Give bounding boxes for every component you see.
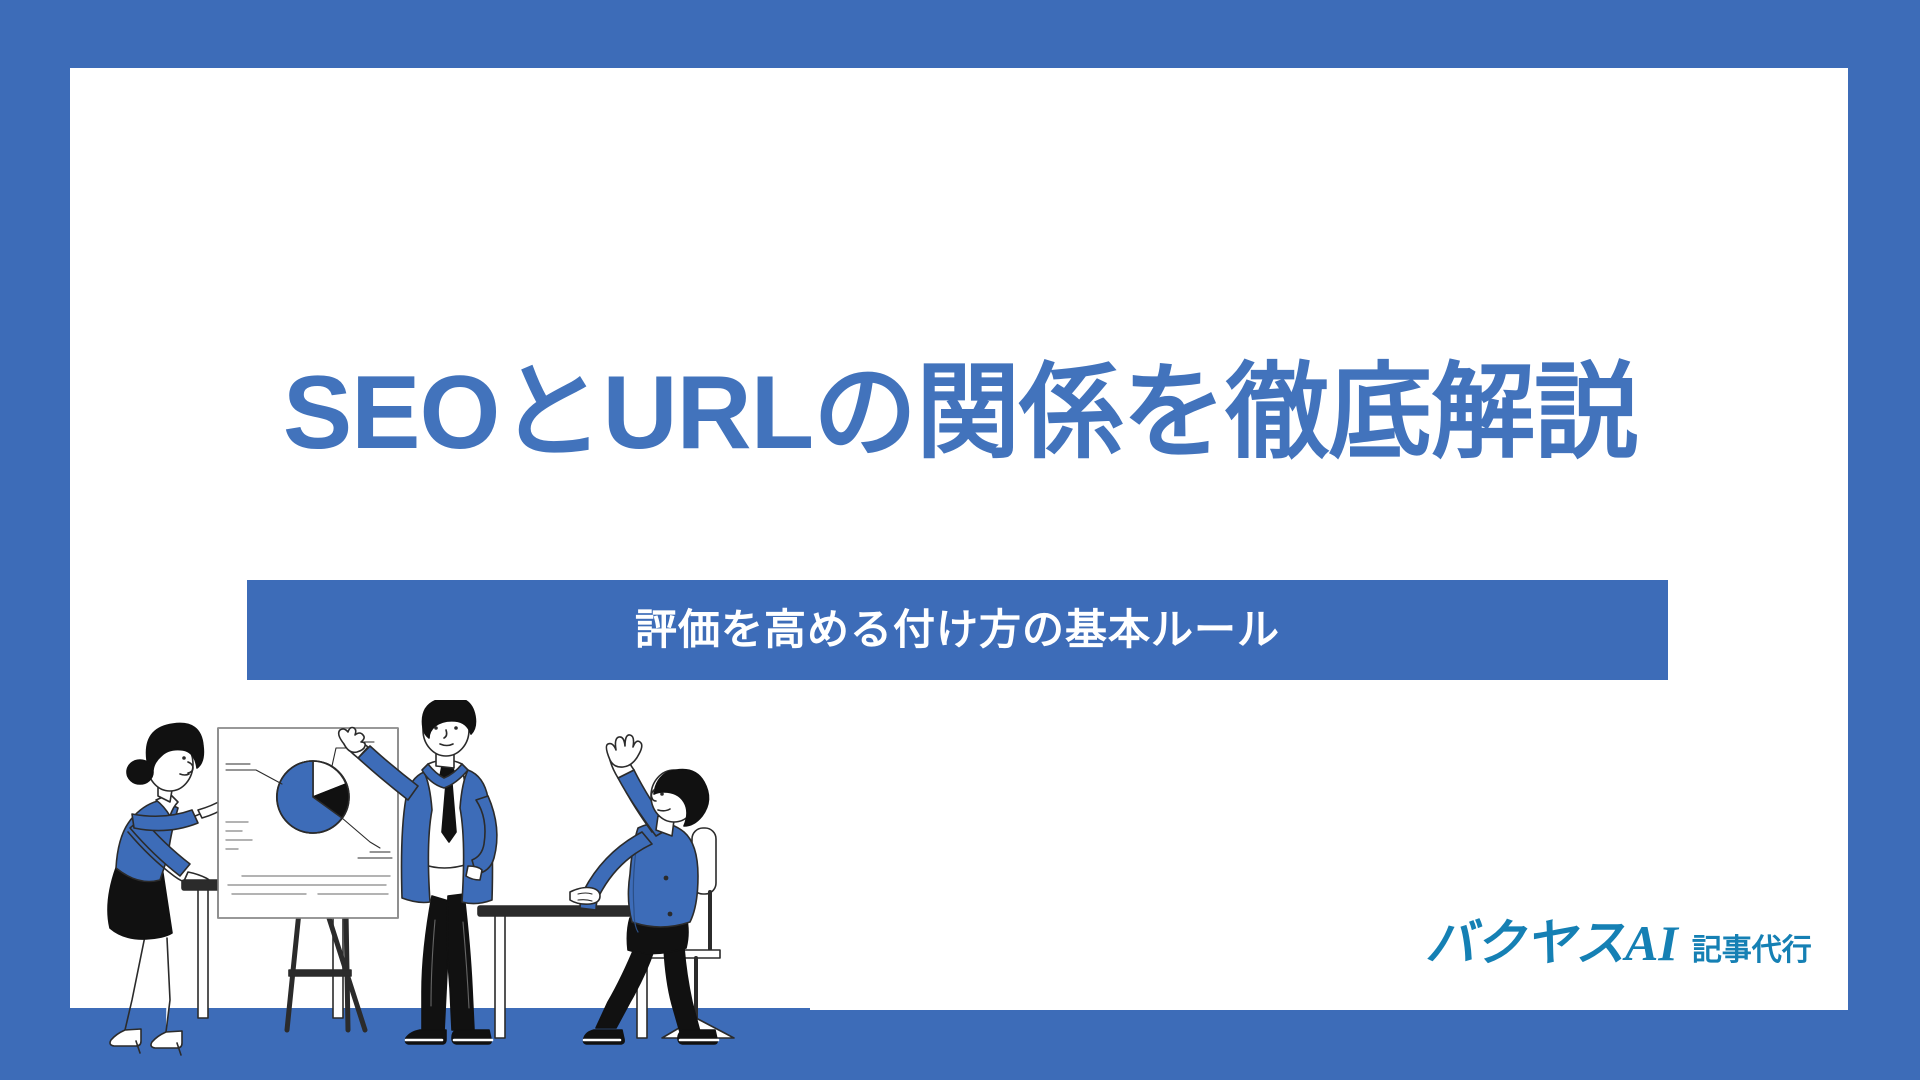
logo-brand-text: バクヤスAI bbox=[1425, 918, 1678, 968]
subtitle-banner: 評価を高める付け方の基本ルール bbox=[247, 580, 1668, 680]
slide-canvas: SEOとURLの関係を徹底解説 評価を高める付け方の基本ルール バクヤスAI 記… bbox=[0, 0, 1920, 1080]
business-team-presentation-illustration bbox=[70, 700, 810, 1080]
pie-chart bbox=[277, 761, 349, 833]
brand-logo: バクヤスAI 記事代行 bbox=[1425, 918, 1812, 968]
easel-with-poster bbox=[218, 728, 398, 1030]
subtitle-text: 評価を高める付け方の基本ルール bbox=[635, 609, 1280, 651]
page-title: SEOとURLの関係を徹底解説 bbox=[0, 355, 1920, 471]
logo-service-text: 記事代行 bbox=[1692, 936, 1812, 966]
illustration-svg bbox=[70, 700, 810, 1080]
